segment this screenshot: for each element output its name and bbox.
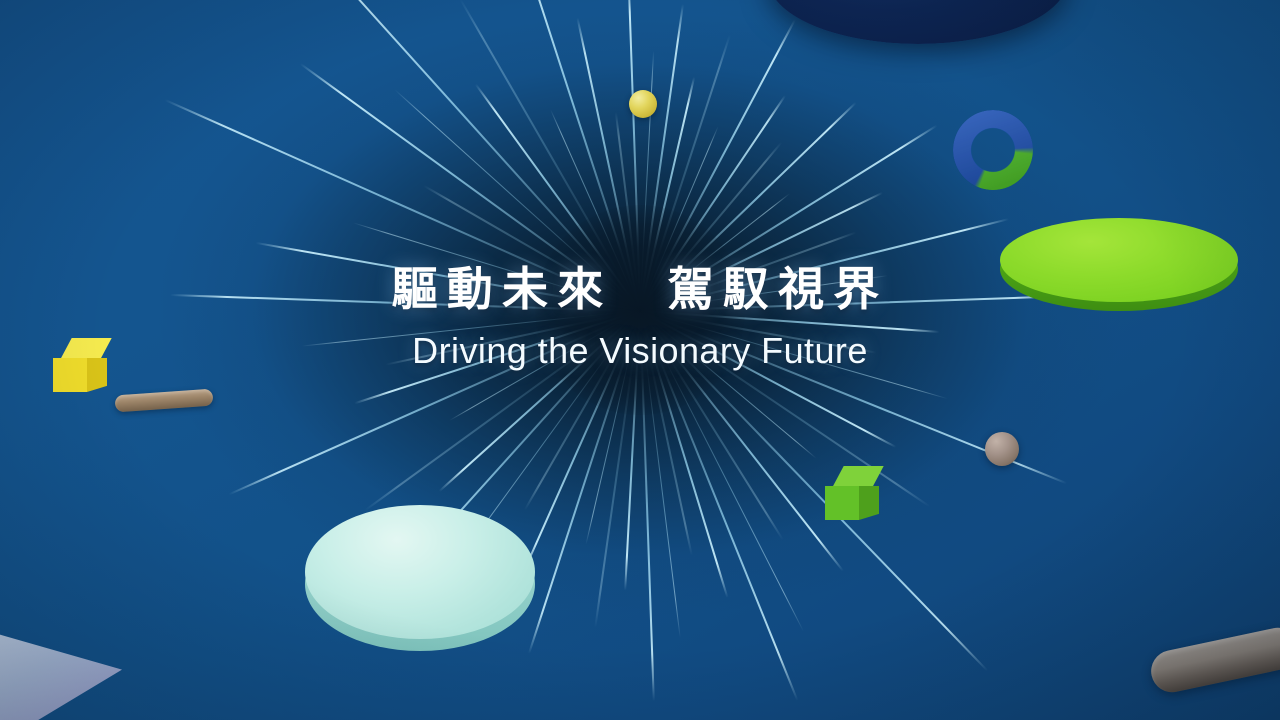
disc-mint: [305, 505, 535, 653]
ring-shading: [953, 110, 1033, 190]
cube-green: [825, 466, 879, 520]
cube-green-front-face: [825, 486, 859, 520]
page-subtitle-english: Driving the Visionary Future: [0, 330, 1280, 372]
page-title-chinese: 驅動未來 駕馭視界: [0, 264, 1280, 316]
cube-green-top-face: [832, 466, 884, 488]
sphere-yellow: [629, 90, 657, 118]
title-block: 驅動未來 駕馭視界 Driving the Visionary Future: [0, 264, 1280, 372]
rod-big: [1147, 624, 1280, 696]
cube-green-side-face: [859, 486, 879, 520]
disc-navy: [768, 0, 1068, 44]
sphere-grey: [985, 432, 1019, 466]
rod-small: [115, 389, 214, 413]
disc-mint-face: [305, 505, 535, 639]
triangle-shape: [0, 618, 122, 720]
donut-ring-icon: [953, 110, 1033, 190]
video-frame: 驅動未來 駕馭視界 Driving the Visionary Future: [0, 0, 1280, 720]
